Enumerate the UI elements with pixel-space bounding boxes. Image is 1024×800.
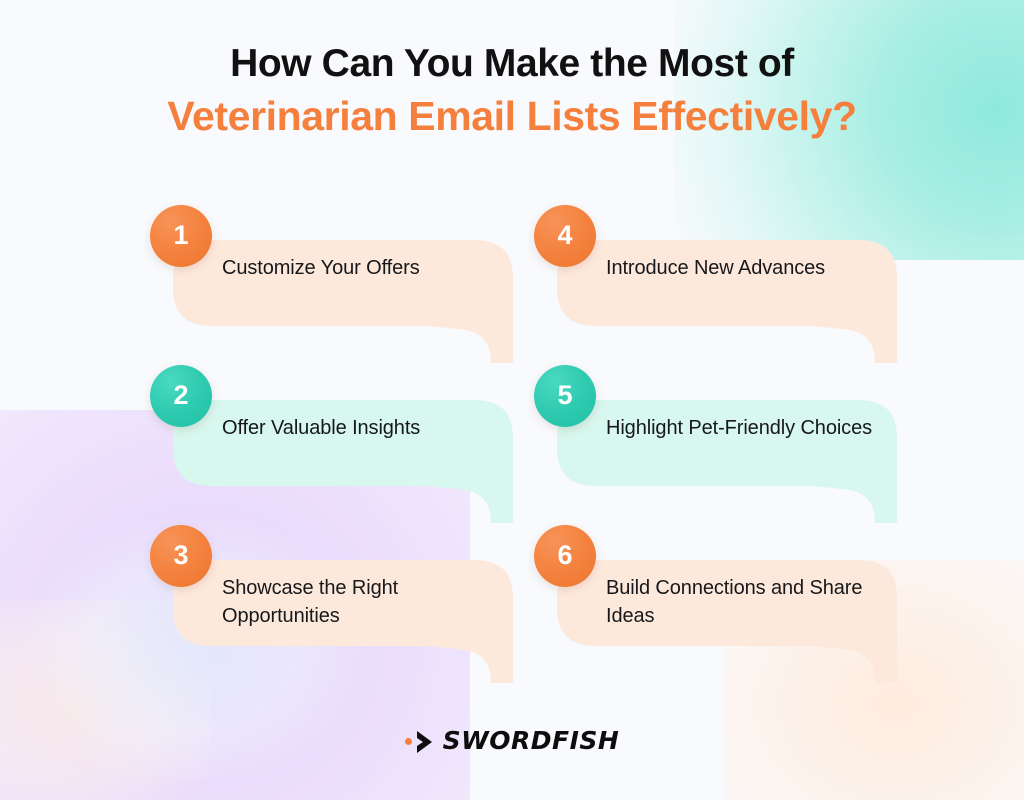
- page-title-line-1: How Can You Make the Most of: [0, 44, 1024, 84]
- tip-number-3: 3: [173, 542, 188, 569]
- tip-number-badge-1: 1: [150, 205, 212, 267]
- tip-card-3: 3 Showcase the Right Opportunities: [150, 520, 534, 680]
- tip-label-3: Showcase the Right Opportunities: [222, 575, 492, 630]
- tip-label-4: Introduce New Advances: [606, 255, 886, 283]
- tip-label-5: Highlight Pet-Friendly Choices: [606, 415, 886, 443]
- tip-card-6: 6 Build Connections and Share Ideas: [534, 520, 918, 680]
- brand-name: SWORDFISH: [443, 726, 620, 755]
- logo-dot-icon: [405, 738, 412, 745]
- infographic-poster: How Can You Make the Most of Veterinaria…: [0, 0, 1024, 800]
- swordfish-mark-icon: [405, 730, 434, 754]
- tip-label-1: Customize Your Offers: [222, 255, 492, 283]
- tip-number-1: 1: [173, 222, 188, 249]
- tip-number-badge-2: 2: [150, 365, 212, 427]
- tips-grid: 1 Customize Your Offers 2 Offer Valuable…: [0, 200, 1024, 700]
- tip-label-2: Offer Valuable Insights: [222, 415, 492, 443]
- page-title-line-2: Veterinarian Email Lists Effectively?: [0, 96, 1024, 138]
- page-title: How Can You Make the Most of Veterinaria…: [0, 44, 1024, 138]
- tip-number-5: 5: [557, 382, 572, 409]
- tip-card-2: 2 Offer Valuable Insights: [150, 360, 534, 520]
- tip-card-5: 5 Highlight Pet-Friendly Choices: [534, 360, 918, 520]
- tip-number-badge-6: 6: [534, 525, 596, 587]
- brand-logo: SWORDFISH: [0, 726, 1024, 755]
- tip-number-2: 2: [173, 382, 188, 409]
- tip-number-badge-3: 3: [150, 525, 212, 587]
- tip-card-4: 4 Introduce New Advances: [534, 200, 918, 360]
- tip-card-1: 1 Customize Your Offers: [150, 200, 534, 360]
- tip-number-6: 6: [557, 542, 572, 569]
- tip-number-badge-4: 4: [534, 205, 596, 267]
- tip-number-4: 4: [557, 222, 572, 249]
- chevron-right-icon: [415, 730, 434, 754]
- tip-number-badge-5: 5: [534, 365, 596, 427]
- tip-label-6: Build Connections and Share Ideas: [606, 575, 886, 630]
